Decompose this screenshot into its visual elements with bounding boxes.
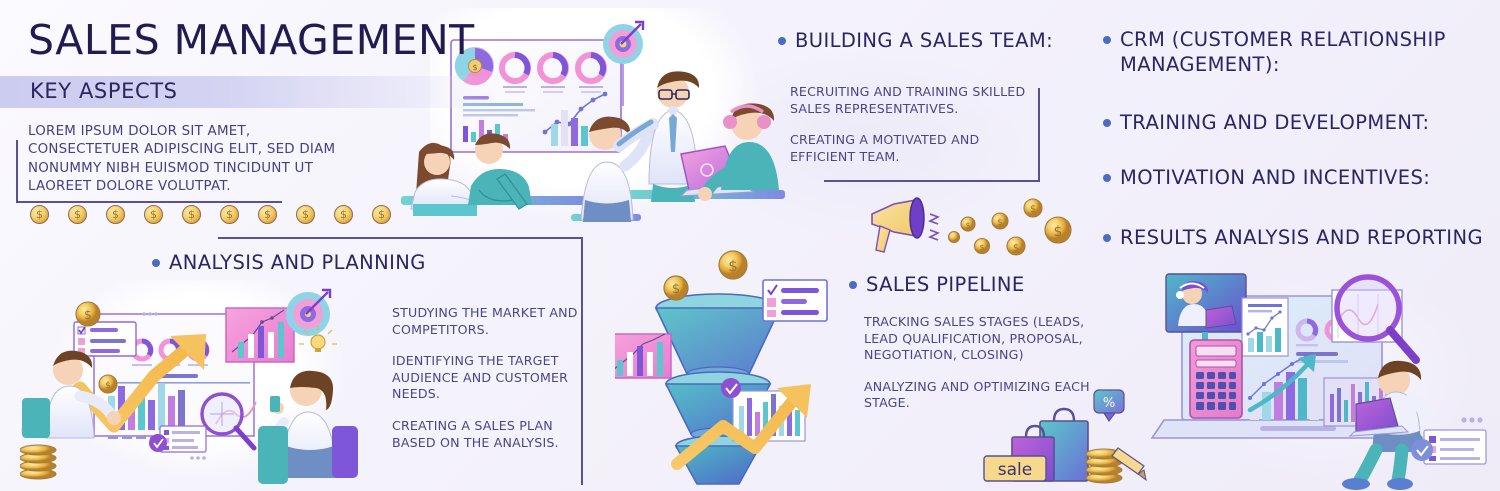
building-team-bracket-horizontal	[824, 180, 1040, 182]
coin-icon	[258, 205, 277, 224]
pipeline-paragraph: ANALYZING AND OPTIMIZING EACH STAGE.	[864, 379, 1109, 412]
bullet-dot-icon	[1103, 174, 1111, 182]
coin-icon	[106, 205, 125, 224]
svg-text:sale: sale	[998, 460, 1032, 480]
right-list-label: RESULTS ANALYSIS AND REPORTING	[1120, 225, 1483, 250]
building-team-heading: BUILDING A SALES TEAM:	[778, 28, 1053, 53]
bullet-dot-icon	[849, 281, 857, 289]
bullet-dot-icon	[1103, 36, 1111, 44]
coin-row	[30, 205, 391, 224]
bullet-dot-icon	[152, 259, 160, 267]
megaphone-coins-illustration: $ $ $ $ $ $	[866, 190, 1081, 262]
svg-text:$: $	[105, 381, 111, 391]
analysis-bracket-horizontal	[218, 237, 582, 239]
sales-pipeline-heading: SALES PIPELINE	[849, 272, 1025, 297]
right-list-item-motivation: MOTIVATION AND INCENTIVES:	[1103, 165, 1493, 190]
svg-text:$: $	[84, 308, 92, 322]
coin-icon	[296, 205, 315, 224]
coin-icon	[220, 205, 239, 224]
analysis-paragraph: STUDYING THE MARKET AND COMPETITORS.	[392, 305, 587, 338]
building-team-heading-label: BUILDING A SALES TEAM:	[795, 28, 1053, 53]
right-list-label: MOTIVATION AND INCENTIVES:	[1120, 165, 1430, 190]
results-reporting-illustration	[1150, 258, 1500, 491]
svg-text:$: $	[672, 282, 680, 297]
sales-funnel-illustration: $ $	[615, 248, 850, 491]
sales-pipeline-body: TRACKING SALES STAGES (LEADS, LEAD QUALI…	[864, 314, 1109, 412]
coin-icon	[334, 205, 353, 224]
intro-bracket-horizontal	[16, 201, 282, 203]
analysis-planning-body: STUDYING THE MARKET AND COMPETITORS. IDE…	[392, 305, 587, 451]
bullet-dot-icon	[778, 37, 786, 45]
building-team-paragraph: RECRUITING AND TRAINING SKILLED SALES RE…	[790, 84, 1040, 117]
bullet-dot-icon	[1103, 119, 1111, 127]
page-title: SALES MANAGEMENT	[28, 16, 475, 64]
pipeline-paragraph: TRACKING SALES STAGES (LEADS, LEAD QUALI…	[864, 314, 1109, 364]
right-list-item-crm: CRM (CUSTOMER RELATIONSHIP MANAGEMENT):	[1103, 27, 1493, 77]
analysis-paragraph: IDENTIFYING THE TARGET AUDIENCE AND CUST…	[392, 353, 587, 403]
right-list-item-training: TRAINING AND DEVELOPMENT:	[1103, 110, 1493, 135]
svg-text:$: $	[965, 221, 970, 230]
svg-text:$: $	[979, 243, 984, 252]
svg-text:$: $	[728, 257, 738, 275]
coin-icon	[144, 205, 163, 224]
analysis-planning-heading: ANALYSIS AND PLANNING	[152, 250, 426, 275]
svg-text:$: $	[1054, 224, 1063, 240]
coin-icon	[372, 205, 391, 224]
bullet-dot-icon	[1103, 234, 1111, 242]
building-team-body: RECRUITING AND TRAINING SKILLED SALES RE…	[790, 84, 1040, 165]
coin-icon	[68, 205, 87, 224]
svg-text:$: $	[472, 63, 477, 72]
svg-text:$: $	[997, 218, 1003, 228]
intro-bracket-vertical	[16, 140, 18, 203]
analysis-planning-illustration: $ $	[20, 278, 370, 488]
right-list-label: CRM (CUSTOMER RELATIONSHIP MANAGEMENT):	[1120, 27, 1493, 77]
svg-text:$: $	[1030, 204, 1036, 215]
key-aspects-subtitle: KEY ASPECTS	[30, 79, 178, 103]
svg-text:$: $	[1013, 243, 1019, 254]
coin-icon	[182, 205, 201, 224]
analysis-paragraph: CREATING A SALES PLAN BASED ON THE ANALY…	[392, 418, 587, 451]
sales-pipeline-heading-label: SALES PIPELINE	[866, 272, 1025, 297]
intro-paragraph: LOREM IPSUM DOLOR SIT AMET, CONSECTETUER…	[28, 123, 358, 197]
right-list-item-results: RESULTS ANALYSIS AND REPORTING	[1103, 225, 1500, 250]
right-list-label: TRAINING AND DEVELOPMENT:	[1120, 110, 1429, 135]
analysis-planning-heading-label: ANALYSIS AND PLANNING	[169, 250, 426, 275]
coin-icon	[30, 205, 49, 224]
infographic-canvas: $	[0, 0, 1500, 491]
building-team-paragraph: CREATING A MOTIVATED AND EFFICIENT TEAM.	[790, 132, 1040, 165]
